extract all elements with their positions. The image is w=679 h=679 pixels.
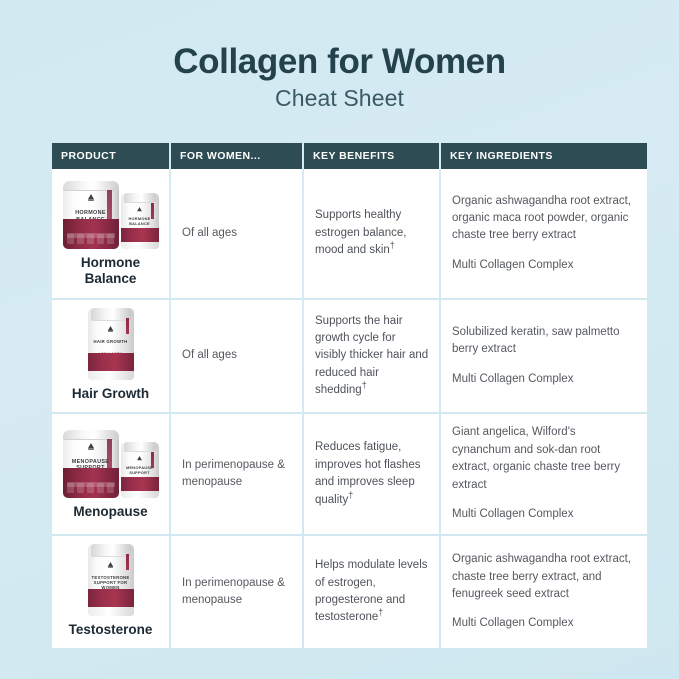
key-benefits-cell: Supports healthy estrogen balance, mood … [304, 169, 439, 299]
key-benefits-text: Reduces fatigue, improves hot flashes an… [304, 429, 439, 519]
for-women-cell: Of all ages [171, 169, 302, 299]
key-ingredients-extra-text: Multi Collagen Complex [452, 506, 637, 523]
column-header-for-women: FOR WOMEN... [171, 143, 302, 169]
key-ingredients-cell: Solubilized keratin, saw palmetto berry … [441, 299, 647, 413]
column-header-key-ingredients: KEY INGREDIENTS [441, 143, 647, 169]
dagger-footnote-mark: † [390, 240, 395, 250]
product-name: Menopause [56, 504, 165, 520]
key-ingredients-text: Organic ashwagandha root extract, chaste… [452, 551, 637, 603]
key-ingredients-cell: Organic ashwagandha root extract, organi… [441, 169, 647, 299]
bottle-container-icon: TESTOSTERONE SUPPORT FOR WOMEN +COLLAGEN [88, 544, 134, 616]
key-ingredients-text: Solubilized keratin, saw palmetto berry … [452, 324, 637, 359]
key-ingredients-text: Organic ashwagandha root extract, organi… [452, 193, 637, 245]
page-title: Collagen for Women [0, 42, 679, 81]
key-benefits-text: Helps modulate levels of estrogen, proge… [304, 547, 439, 637]
table-body: HORMONE BALANCE +COLLAGEN [52, 169, 647, 649]
bottle-container-icon: HAIR GROWTH +COLLAGEN [88, 308, 134, 380]
table-row: TESTOSTERONE SUPPORT FOR WOMEN +COLLAGEN… [52, 535, 647, 649]
brand-mountain-icon [88, 562, 134, 569]
cheat-sheet-table: PRODUCT FOR WOMEN... KEY BENEFITS KEY IN… [50, 143, 649, 649]
product-image-hair-growth: HAIR GROWTH +COLLAGEN [56, 308, 165, 380]
key-ingredients-extra-text: Multi Collagen Complex [452, 615, 637, 632]
product-cell: HAIR GROWTH +COLLAGEN Hair Growth [52, 299, 169, 413]
product-label-name: MENOPAUSE SUPPORT [121, 466, 159, 476]
product-cell: TESTOSTERONE SUPPORT FOR WOMEN +COLLAGEN… [52, 535, 169, 649]
product-cell: HORMONE BALANCE +COLLAGEN [52, 169, 169, 299]
product-name-line2: Balance [85, 271, 137, 286]
key-ingredients-extra-text: Multi Collagen Complex [452, 257, 637, 274]
product-name: Hormone Balance [56, 255, 165, 288]
product-label-name: HAIR GROWTH [88, 339, 134, 344]
key-benefits-text: Supports healthy estrogen balance, mood … [304, 197, 439, 269]
title-block: Collagen for Women Cheat Sheet [0, 42, 679, 112]
table-row: HORMONE BALANCE +COLLAGEN [52, 169, 647, 299]
for-women-cell: In perimenopause & menopause [171, 535, 302, 649]
product-cell: MENOPAUSE SUPPORT +COLLAGEN [52, 413, 169, 534]
for-women-cell: In perimenopause & menopause [171, 413, 302, 534]
cheat-sheet-table-wrapper: PRODUCT FOR WOMEN... KEY BENEFITS KEY IN… [50, 143, 639, 649]
key-benefits-cell: Helps modulate levels of estrogen, proge… [304, 535, 439, 649]
brand-mountain-icon [88, 326, 134, 333]
product-label-name: HORMONE BALANCE [121, 217, 159, 227]
product-name: Testosterone [56, 622, 165, 638]
column-header-product: PRODUCT [52, 143, 169, 169]
for-women-text: In perimenopause & menopause [171, 447, 302, 502]
key-ingredients-text: Giant angelica, Wilford's cynanchum and … [452, 424, 637, 494]
brand-mountain-icon [121, 207, 159, 213]
product-name-line1: Hormone [81, 255, 140, 270]
key-benefits-cell: Reduces fatigue, improves hot flashes an… [304, 413, 439, 534]
for-women-text: Of all ages [171, 337, 302, 374]
for-women-cell: Of all ages [171, 299, 302, 413]
dagger-footnote-mark: † [362, 381, 367, 391]
for-women-text: Of all ages [171, 215, 302, 252]
key-benefits-cell: Supports the hair growth cycle for visib… [304, 299, 439, 413]
table-header: PRODUCT FOR WOMEN... KEY BENEFITS KEY IN… [52, 143, 647, 169]
column-header-key-benefits: KEY BENEFITS [304, 143, 439, 169]
table-row: HAIR GROWTH +COLLAGEN Hair Growth Of all… [52, 299, 647, 413]
bottle-container-icon: MENOPAUSE SUPPORT [121, 442, 159, 498]
product-image-hormone-balance: HORMONE BALANCE +COLLAGEN [56, 177, 165, 249]
dagger-footnote-mark: † [348, 490, 353, 500]
for-women-text: In perimenopause & menopause [171, 565, 302, 620]
brand-mountain-icon [121, 456, 159, 462]
brand-mountain-icon [63, 443, 119, 451]
key-ingredients-extra-text: Multi Collagen Complex [452, 371, 637, 388]
product-image-testosterone: TESTOSTERONE SUPPORT FOR WOMEN +COLLAGEN [56, 544, 165, 616]
tub-container-icon: HORMONE BALANCE +COLLAGEN [63, 181, 119, 249]
page-subtitle: Cheat Sheet [0, 85, 679, 112]
dagger-footnote-mark: † [378, 608, 383, 618]
tub-container-icon: MENOPAUSE SUPPORT +COLLAGEN [63, 430, 119, 498]
table-header-row: PRODUCT FOR WOMEN... KEY BENEFITS KEY IN… [52, 143, 647, 169]
key-benefits-text: Supports the hair growth cycle for visib… [304, 303, 439, 410]
brand-mountain-icon [63, 194, 119, 202]
key-benefits-body: Supports the hair growth cycle for visib… [315, 315, 428, 397]
product-image-menopause: MENOPAUSE SUPPORT +COLLAGEN [56, 426, 165, 498]
infographic-page: Collagen for Women Cheat Sheet PRODUCT F… [0, 0, 679, 679]
key-benefits-body: Helps modulate levels of estrogen, proge… [315, 559, 428, 623]
table-row: MENOPAUSE SUPPORT +COLLAGEN [52, 413, 647, 534]
key-ingredients-cell: Giant angelica, Wilford's cynanchum and … [441, 413, 647, 534]
key-benefits-body: Reduces fatigue, improves hot flashes an… [315, 441, 420, 505]
key-ingredients-cell: Organic ashwagandha root extract, chaste… [441, 535, 647, 649]
product-name: Hair Growth [56, 386, 165, 402]
bottle-container-icon: HORMONE BALANCE [121, 193, 159, 249]
